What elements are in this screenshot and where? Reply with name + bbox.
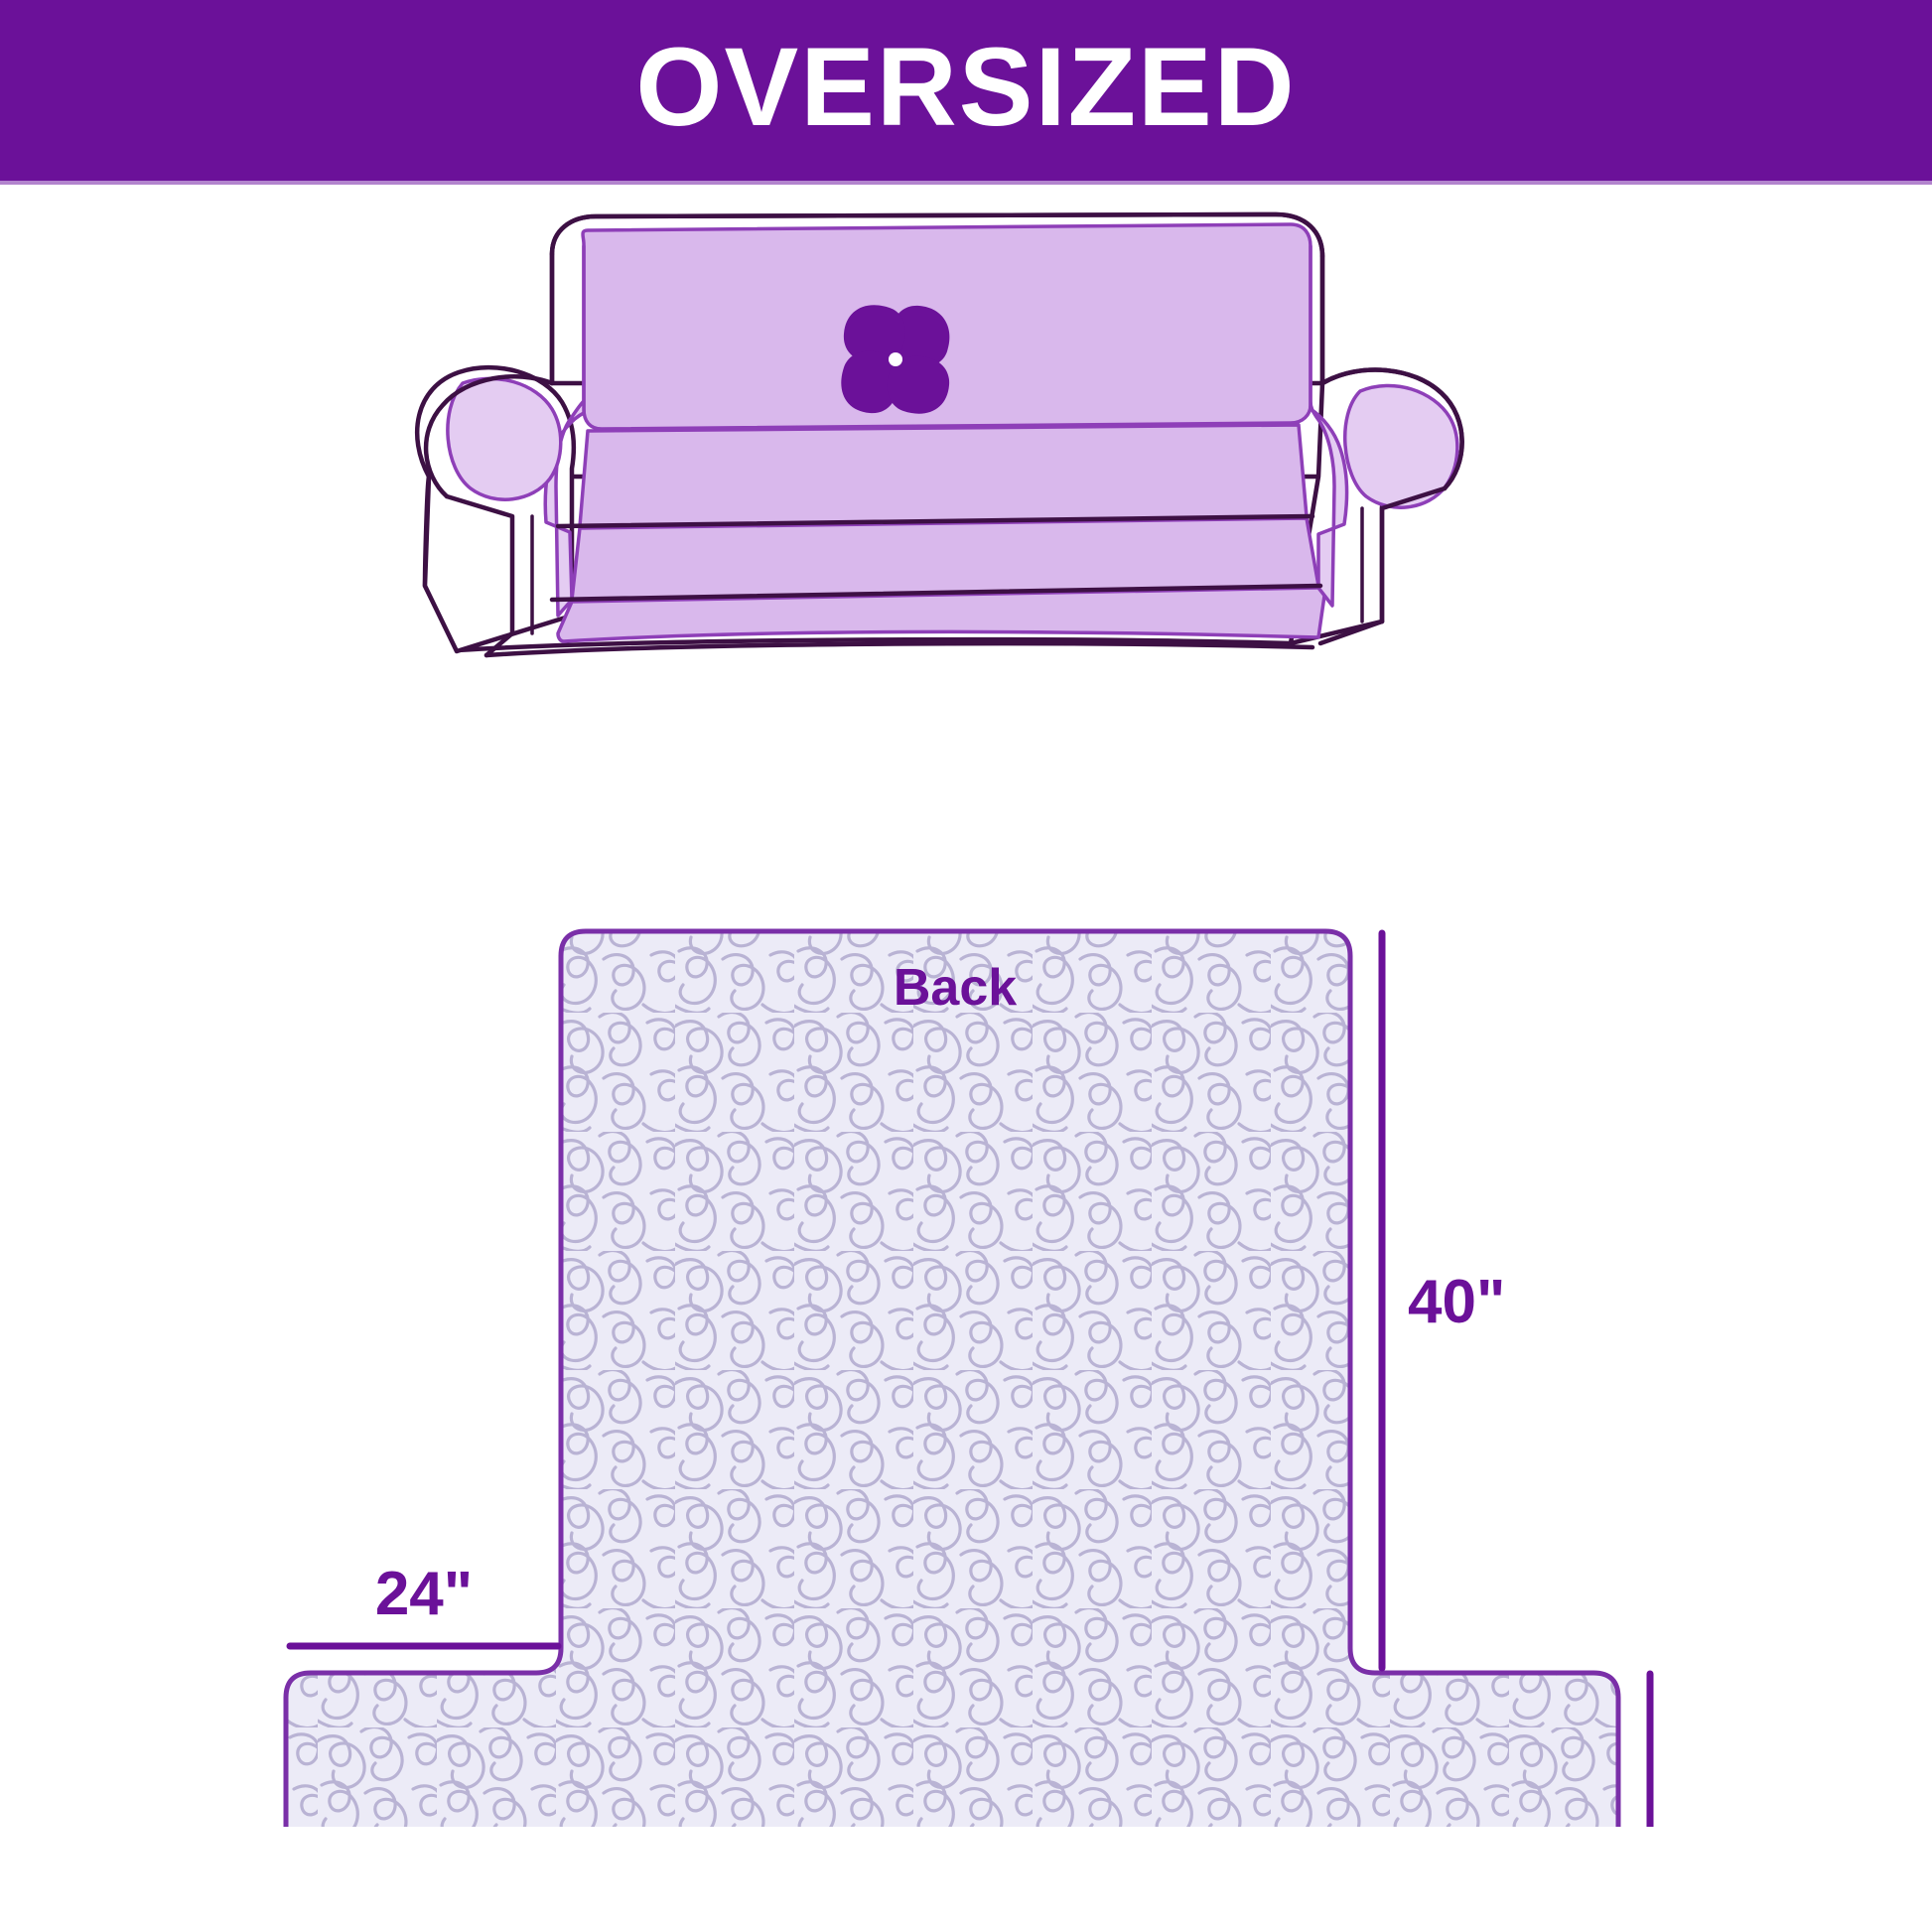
sofa-slipcover [448,224,1457,641]
dimension-back-to-armrest-gap: 24" [290,1560,558,1646]
svg-text:40": 40" [1408,1268,1505,1336]
header-banner: OVERSIZED [0,0,1932,181]
dimension-back-height: 40" [1382,933,1505,1668]
dimension-armrest-height: 23" [1650,1674,1773,1827]
cover-diagram: Back OVERSIZED Armrest Armrest Front 40"… [199,894,1807,1827]
cover-pad-shape [286,931,1618,1827]
page-title: OVERSIZED [635,32,1296,143]
pinwheel-icon [841,305,949,413]
svg-text:24": 24" [375,1560,473,1628]
panel-label-back: Back [894,959,1017,1017]
sofa-illustration: .ol { fill:none; stroke:#3d1044; stroke-… [367,189,1588,705]
